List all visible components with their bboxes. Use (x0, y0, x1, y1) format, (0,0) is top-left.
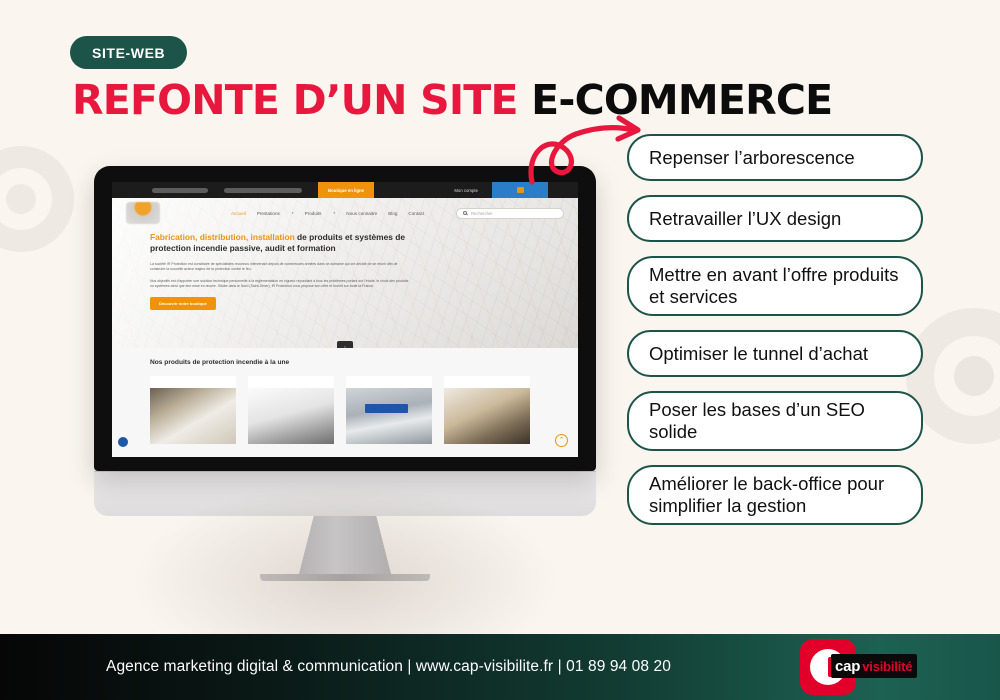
website-screenshot: Boutique en ligne Mon compte Accueil Pre… (112, 182, 578, 457)
site-logo[interactable] (126, 202, 160, 224)
products-section-title: Nos produits de protection incendie à la… (150, 359, 564, 366)
objective-item[interactable]: Améliorer le back-office pour simplifier… (627, 465, 923, 525)
site-products-section: Nos produits de protection incendie à la… (112, 348, 578, 457)
objective-label: Améliorer le back-office pour simplifier… (649, 473, 901, 517)
topbar-shop-button[interactable]: Boutique en ligne (318, 182, 374, 198)
nav-item-contact[interactable]: Contact (408, 211, 424, 216)
nav-item-nous-connaitre[interactable]: Nous connaitre (346, 211, 377, 216)
monitor-stand-neck (299, 516, 391, 574)
monitor-bezel: Boutique en ligne Mon compte Accueil Pre… (94, 166, 596, 471)
arrow-down-icon[interactable]: ↓ (337, 341, 353, 348)
search-icon (463, 211, 467, 215)
topbar-account-link[interactable]: Mon compte (454, 188, 478, 193)
objectives-list: Repenser l’arborescence Retravailler l’U… (627, 134, 923, 525)
site-main-nav: Accueil Prestations▾ Produits▾ Nous conn… (112, 198, 578, 228)
objective-item[interactable]: Mettre en avant l’offre produits et serv… (627, 256, 923, 316)
objective-label: Repenser l’arborescence (649, 147, 855, 169)
logo-word-cap: cap (835, 658, 860, 675)
nav-item-blog[interactable]: Blog (388, 211, 397, 216)
logo-word-visibilite: visibilité (862, 659, 912, 674)
objective-label: Optimiser le tunnel d’achat (649, 343, 868, 365)
objective-item[interactable]: Poser les bases d’un SEO solide (627, 391, 923, 451)
product-card[interactable] (346, 376, 432, 444)
hero-paragraph-1: La société IR Protection est constituée … (150, 262, 412, 272)
hero-headline: Fabrication, distribution, installation … (150, 232, 412, 255)
hero-headline-highlight: Fabrication, distribution, installation (150, 232, 295, 242)
category-badge-label: SITE-WEB (92, 45, 165, 61)
topbar-placeholder-2 (224, 188, 302, 193)
objective-item[interactable]: Repenser l’arborescence (627, 134, 923, 181)
objective-label: Retravailler l’UX design (649, 208, 841, 230)
product-card[interactable] (444, 376, 530, 444)
footer-contact-text: Agence marketing digital & communication… (106, 658, 671, 676)
site-search-field[interactable]: Rechercher (456, 208, 564, 219)
hero-cta-button[interactable]: Découvrir notre boutique (150, 297, 216, 310)
objective-item[interactable]: Optimiser le tunnel d’achat (627, 330, 923, 377)
objective-label: Mettre en avant l’offre produits et serv… (649, 264, 901, 308)
accessibility-icon[interactable] (118, 437, 128, 447)
hero-paragraph-2: Nos objectifs est d’apporter une solutio… (150, 279, 412, 289)
site-hero: Accueil Prestations▾ Produits▾ Nous conn… (112, 198, 578, 348)
decorative-ring-left (0, 146, 74, 252)
desktop-monitor-mockup: Boutique en ligne Mon compte Accueil Pre… (94, 166, 596, 581)
poster-canvas: SITE-WEB REFONTE D’UN SITE E-COMMERCE Bo… (0, 0, 1000, 700)
cart-icon (517, 187, 524, 193)
site-search-placeholder: Rechercher (471, 211, 493, 216)
objective-label: Poser les bases d’un SEO solide (649, 399, 901, 443)
products-grid (150, 376, 564, 444)
monitor-stand-base (260, 574, 430, 581)
site-topbar: Boutique en ligne Mon compte (112, 182, 578, 198)
nav-item-prestations[interactable]: Prestations (257, 211, 280, 216)
page-title-rest: E-COMMERCE (531, 76, 832, 124)
nav-item-accueil[interactable]: Accueil (231, 211, 246, 216)
page-title-highlight: REFONTE D’UN SITE (72, 76, 518, 124)
logo-wordmark: capvisibilité (831, 654, 917, 678)
cap-visibilite-logo[interactable]: capvisibilité (800, 640, 904, 693)
objective-item[interactable]: Retravailler l’UX design (627, 195, 923, 242)
page-title: REFONTE D’UN SITE E-COMMERCE (72, 76, 832, 124)
category-badge: SITE-WEB (70, 36, 187, 69)
chevron-down-icon: ▾ (333, 211, 335, 215)
monitor-chin (94, 471, 596, 516)
chevron-up-icon[interactable]: ⌃ (555, 434, 568, 447)
chevron-down-icon: ▾ (292, 211, 294, 215)
product-card[interactable] (150, 376, 236, 444)
topbar-placeholder-1 (152, 188, 208, 193)
topbar-cart-button[interactable] (492, 182, 548, 198)
hero-copy: Fabrication, distribution, installation … (112, 228, 412, 310)
product-card[interactable] (248, 376, 334, 444)
nav-item-produits[interactable]: Produits (305, 211, 322, 216)
